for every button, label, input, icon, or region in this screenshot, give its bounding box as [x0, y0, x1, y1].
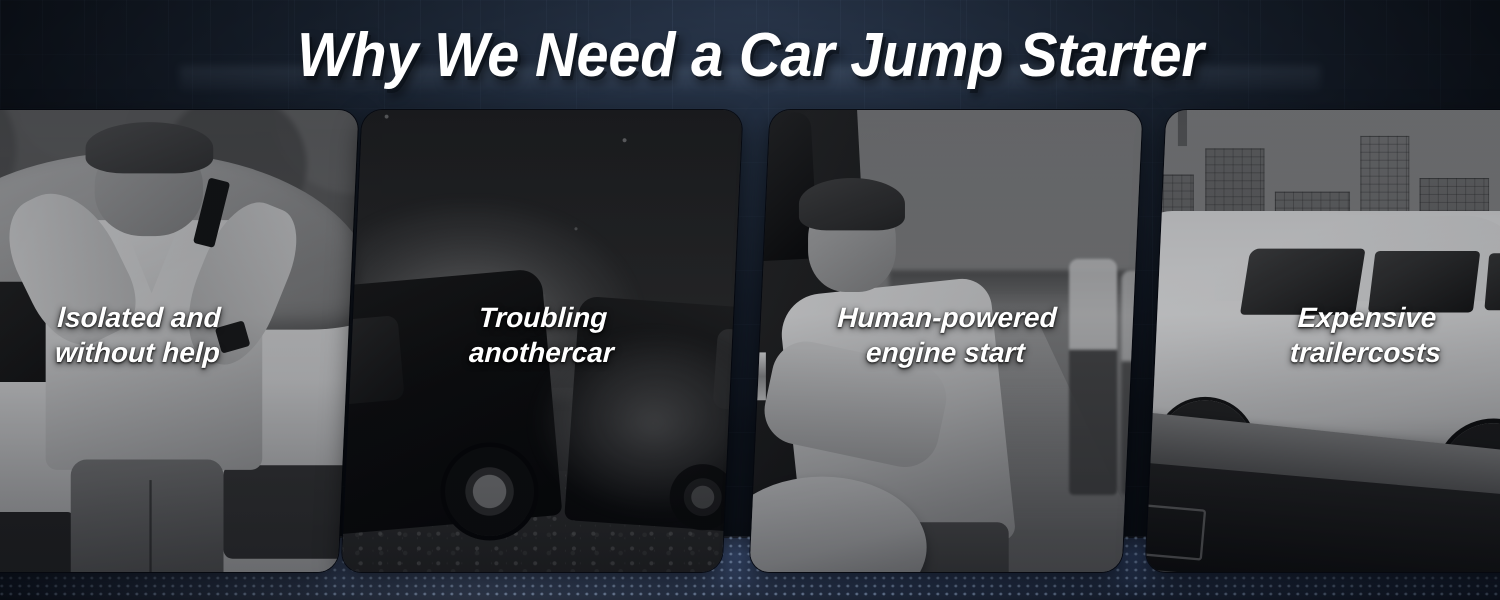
caption-line-1: lsolated and — [0, 300, 336, 335]
panel-push-start-caption: Human-powered engine start — [759, 300, 1134, 371]
panel-push-start[interactable]: Human-powered engine start — [750, 110, 1143, 572]
panel-isolated-caption: lsolated and without help — [0, 300, 350, 371]
panel-isolated[interactable]: lsolated and without help — [0, 110, 358, 572]
caption-line-1: Troubling — [366, 300, 720, 335]
promo-banner: Why We Need a Car Jump Starter — [0, 0, 1500, 600]
panel-another-car[interactable]: Troubling anothercar — [342, 110, 743, 572]
caption-line-1: Human-powered — [774, 300, 1120, 335]
caption-line-2: trailercosts — [1169, 335, 1500, 370]
banner-title: Why We Need a Car Jump Starter — [297, 20, 1204, 91]
caption-line-2: without help — [0, 335, 334, 370]
panel-towing[interactable]: Expensive trailercosts — [1146, 110, 1500, 572]
panel-another-car-caption: Troubling anothercar — [351, 300, 734, 371]
panel-strip: lsolated and without help — [0, 110, 1500, 572]
caption-line-2: anothercar — [365, 335, 719, 370]
caption-line-1: Expensive — [1170, 300, 1500, 335]
caption-line-2: engine start — [773, 335, 1119, 370]
panel-towing-caption: Expensive trailercosts — [1155, 300, 1500, 371]
banner-header: Why We Need a Car Jump Starter — [0, 0, 1500, 110]
